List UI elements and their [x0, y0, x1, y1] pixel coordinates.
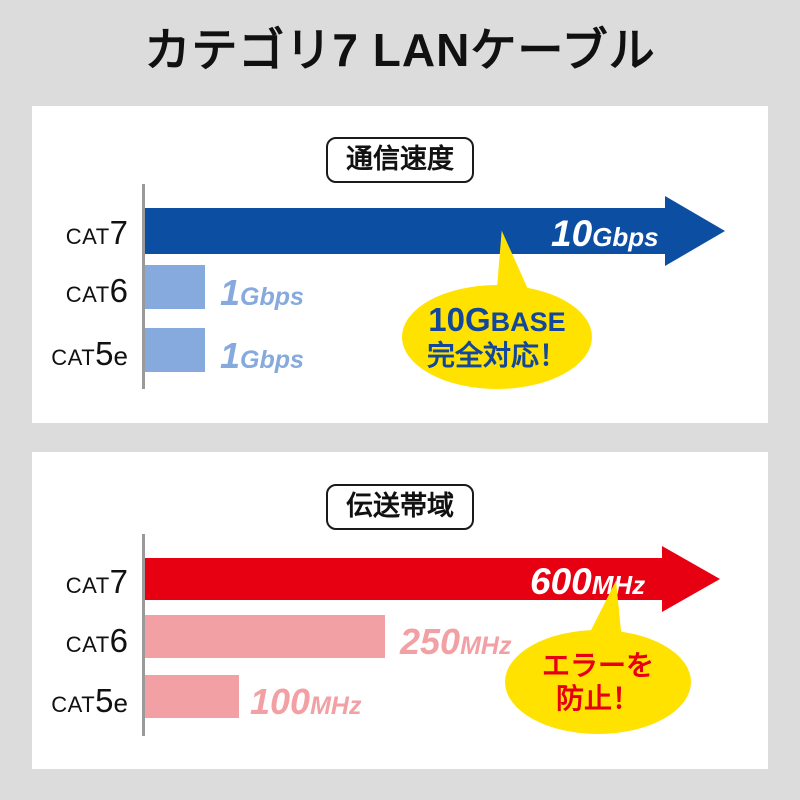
- category-label-cat5e-bandwidth: CAT5e: [40, 682, 128, 720]
- bubble-line-1: エラーを: [542, 651, 654, 680]
- bar-cat6-bandwidth: [145, 615, 385, 658]
- bubble-line-2: 防止！: [556, 684, 640, 713]
- bar-value-cat5e-bandwidth: 100MHz: [250, 684, 361, 720]
- bubble-line-2: 完全対応！: [427, 341, 567, 370]
- category-label-cat5e-speed: CAT5e: [40, 335, 128, 373]
- bubble-line-1: 10GBASE: [428, 303, 565, 338]
- callout-bubble-error-prevention: エラーを 防止！: [505, 630, 691, 734]
- bar-cat5e-speed: [145, 328, 205, 372]
- bar-value-cat6-bandwidth: 250MHz: [400, 624, 511, 660]
- callout-bubble-10gbase: 10GBASE 完全対応！: [402, 285, 592, 389]
- bar-value-cat5e-speed: 1Gbps: [220, 338, 304, 374]
- bar-arrowhead: [665, 196, 725, 266]
- bar-arrowhead: [662, 546, 720, 612]
- bar-value-cat7-speed: 10Gbps: [551, 215, 659, 252]
- category-label-cat6-bandwidth: CAT6: [40, 622, 128, 660]
- category-label-cat7-bandwidth: CAT7: [40, 563, 128, 601]
- section-heading-bandwidth: 伝送帯域: [326, 484, 474, 530]
- section-heading-speed: 通信速度: [326, 137, 474, 183]
- bar-cat5e-bandwidth: [145, 675, 239, 718]
- page-title: カテゴリ7 LANケーブル: [0, 22, 800, 78]
- bar-value-cat6-speed: 1Gbps: [220, 275, 304, 311]
- infographic-page: カテゴリ7 LANケーブル 通信速度 CAT7 10Gbps CAT6 1Gbp…: [0, 0, 800, 800]
- category-label-cat7-speed: CAT7: [40, 214, 128, 252]
- bubble-tail-icon: [588, 578, 628, 639]
- category-label-cat6-speed: CAT6: [40, 272, 128, 310]
- bar-cat6-speed: [145, 265, 205, 309]
